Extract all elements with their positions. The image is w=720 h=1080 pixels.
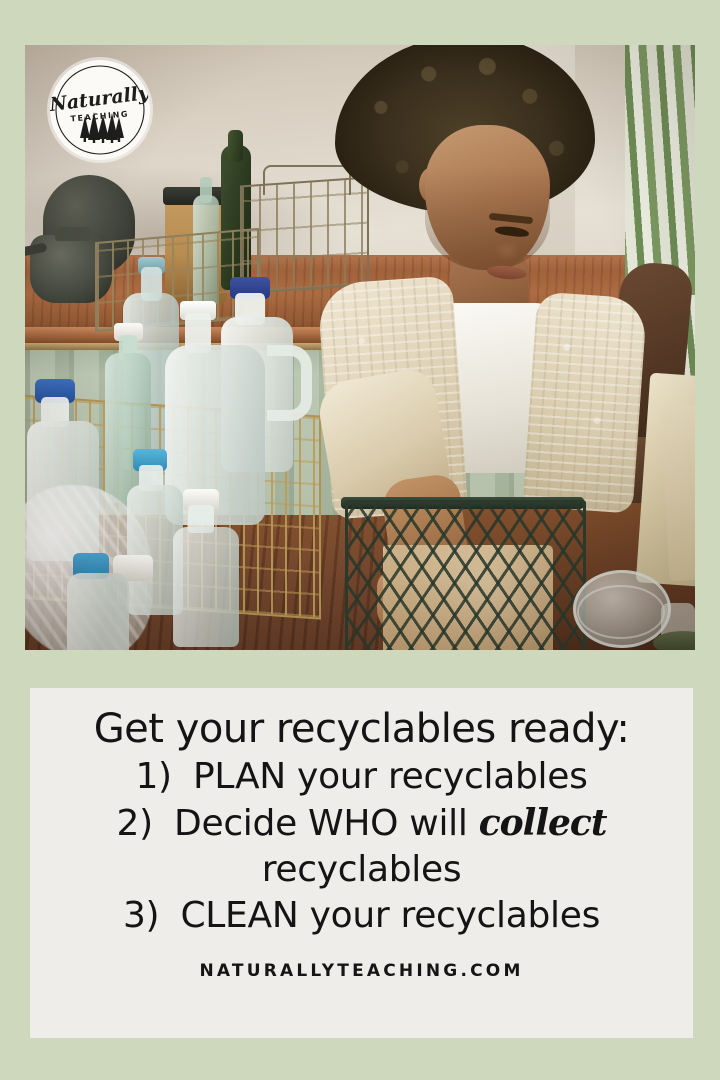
step-text-1: PLAN your recyclables bbox=[193, 756, 588, 797]
plastic-tub-rings bbox=[577, 585, 665, 639]
step-number-1: 1) bbox=[135, 756, 171, 797]
green-bottle-neck bbox=[228, 130, 243, 162]
panel-headline: Get your recyclables ready: bbox=[30, 708, 693, 750]
step-text-2-after: recyclables bbox=[262, 849, 462, 890]
black-wire-basket-front bbox=[345, 500, 586, 650]
step-item-3: 3) CLEAN your recyclables bbox=[30, 893, 693, 939]
text-panel: Get your recyclables ready: 1) PLAN your… bbox=[30, 688, 693, 1038]
wire-basket-handle bbox=[263, 165, 351, 195]
teapot-lid bbox=[55, 227, 91, 241]
brand-logo-badge: Naturally TEACHING bbox=[50, 60, 150, 160]
bottom-bottle bbox=[67, 573, 129, 650]
step-number-3: 3) bbox=[123, 895, 159, 936]
child-cardigan-right-knit bbox=[523, 291, 648, 513]
step-item-2: 2) Decide WHO will collect recyclables bbox=[30, 800, 693, 893]
milk-jug-handle bbox=[267, 345, 312, 421]
step-number-2: 2) bbox=[117, 803, 153, 844]
step-item-1: 1) PLAN your recyclables bbox=[30, 754, 693, 800]
clear-glass-bottle-neck bbox=[200, 177, 212, 203]
step-text-2-before: Decide WHO will bbox=[174, 803, 468, 844]
pinterest-pin-graphic: Naturally TEACHING Get your recyclables … bbox=[0, 0, 720, 1080]
step-text-2-script: collect bbox=[479, 802, 607, 844]
front-clear-bottle bbox=[173, 527, 239, 647]
website-url: NATURALLYTEACHING.COM bbox=[30, 961, 693, 981]
child-nose bbox=[495, 243, 521, 261]
steps-list: 1) PLAN your recyclables 2) Decide WHO w… bbox=[30, 754, 693, 939]
step-text-3: CLEAN your recyclables bbox=[180, 895, 600, 936]
